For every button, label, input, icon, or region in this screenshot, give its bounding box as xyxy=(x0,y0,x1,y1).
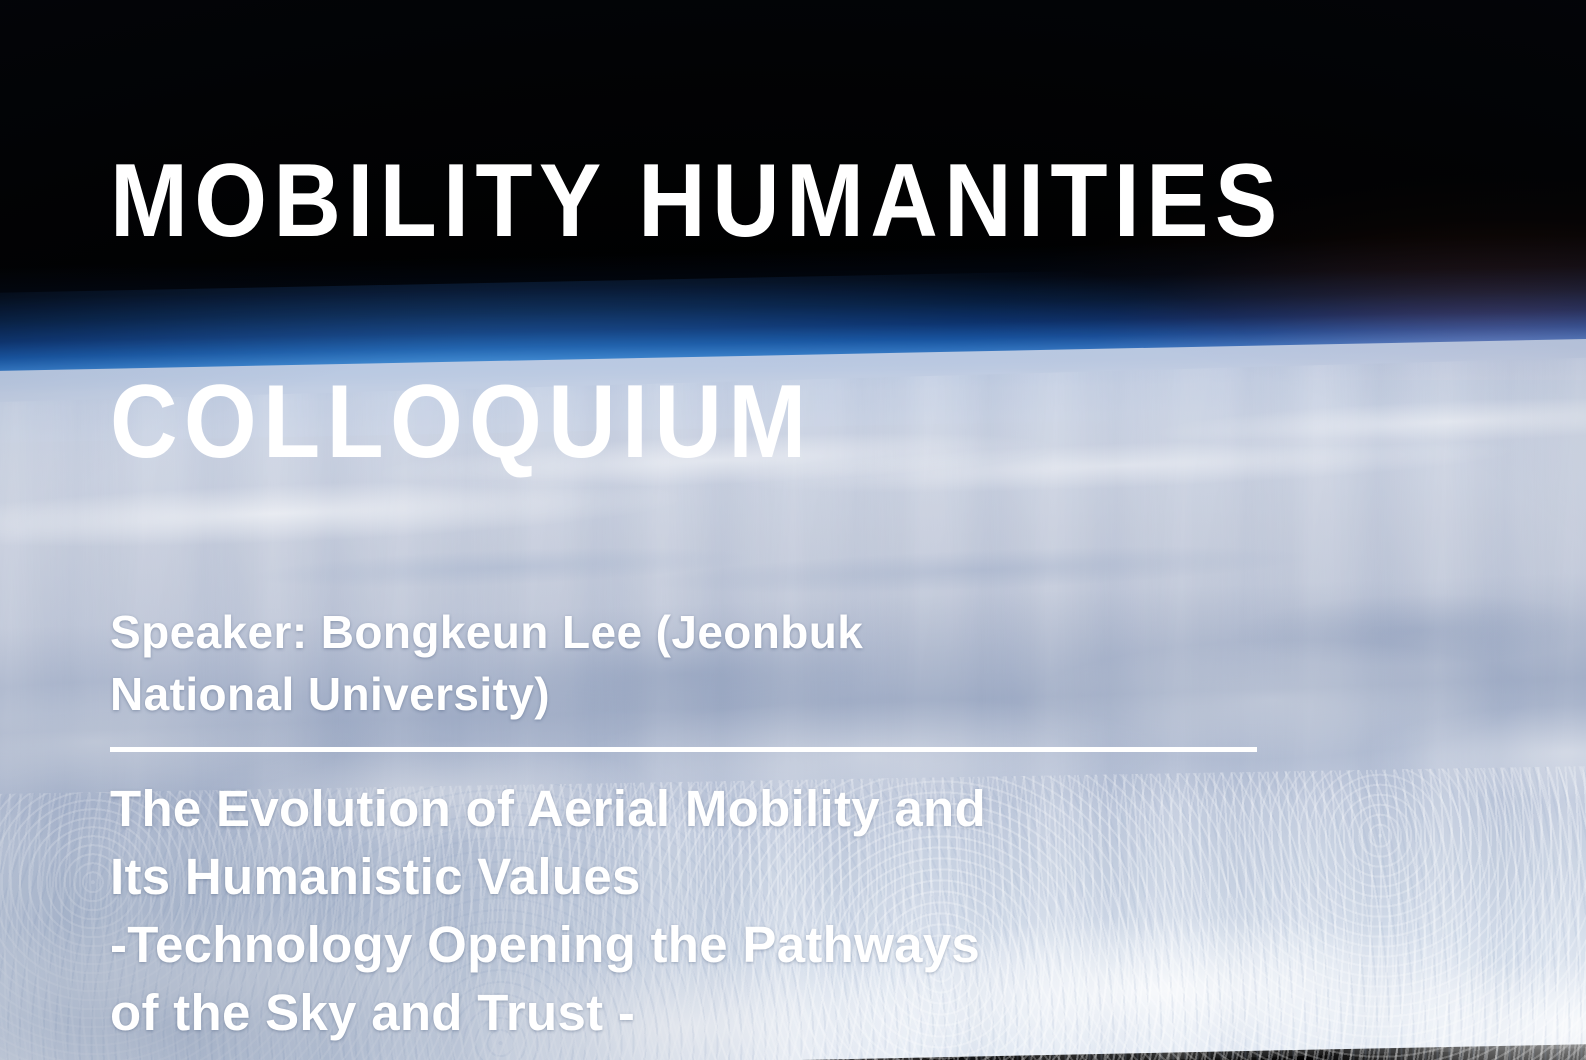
poster-headline: MOBILITY HUMANITIES COLLOQUIUM xyxy=(110,36,1284,587)
headline-line-1: MOBILITY HUMANITIES xyxy=(110,146,1284,256)
section-divider xyxy=(110,747,1257,752)
talk-title-line-1: The Evolution of Aerial Mobility and xyxy=(110,775,1160,843)
talk-title-line-4: of the Sky and Trust - xyxy=(110,979,1160,1047)
headline-line-2: COLLOQUIUM xyxy=(110,367,1284,477)
talk-title-block: The Evolution of Aerial Mobility and Its… xyxy=(110,775,1160,1047)
speaker-line-2: National University) xyxy=(110,663,1010,725)
talk-title-line-3: -Technology Opening the Pathways xyxy=(110,911,1160,979)
speaker-line-1: Speaker: Bongkeun Lee (Jeonbuk xyxy=(110,601,1010,663)
talk-title-line-2: Its Humanistic Values xyxy=(110,843,1160,911)
speaker-block: Speaker: Bongkeun Lee (Jeonbuk National … xyxy=(110,601,1010,725)
colloquium-poster: MOBILITY HUMANITIES COLLOQUIUM Speaker: … xyxy=(0,0,1586,1060)
